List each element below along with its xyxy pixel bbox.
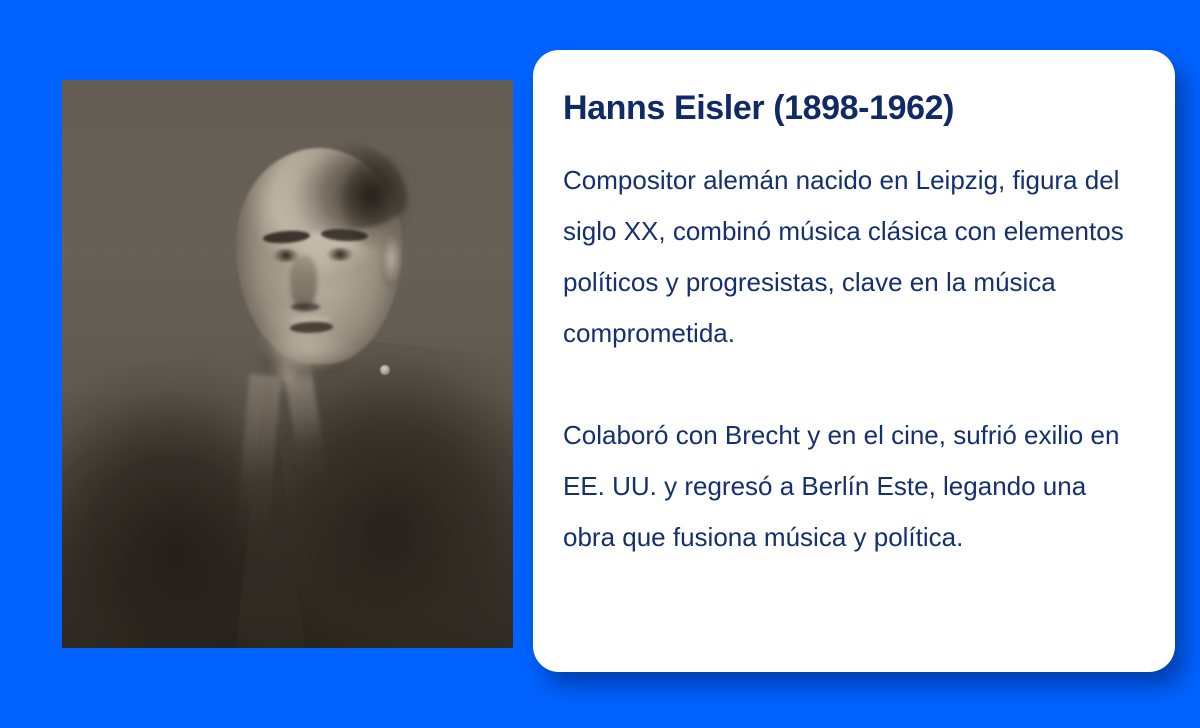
eye-right (326, 248, 354, 261)
info-card: Hanns Eisler (1898-1962) Compositor alem… (533, 50, 1175, 672)
chin-highlight (260, 333, 359, 373)
portrait-photo (62, 80, 513, 648)
photo-backdrop (62, 80, 513, 648)
ear (380, 233, 409, 290)
biography-paragraph-2: Colaboró con Brecht y en el cine, sufrió… (563, 410, 1129, 563)
page-title: Hanns Eisler (1898-1962) (563, 88, 1129, 129)
slide-canvas: Hanns Eisler (1898-1962) Compositor alem… (0, 0, 1200, 728)
nostrils (291, 303, 320, 312)
nose (290, 256, 317, 310)
biography-paragraph-1: Compositor alemán nacido en Leipzig, fig… (563, 155, 1129, 359)
